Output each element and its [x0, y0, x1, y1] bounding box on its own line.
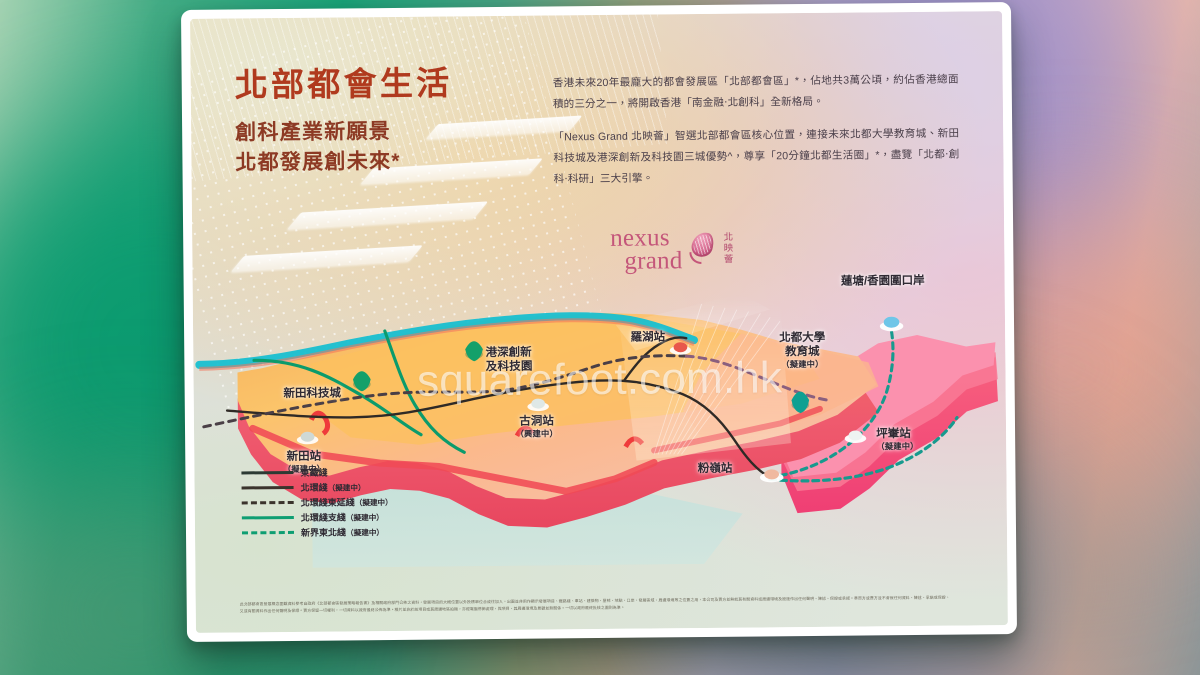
- map-label-hk-sz-innotech-park: 港深創新 及科技園: [486, 345, 533, 373]
- logo-chinese-text: 北映薈: [719, 232, 733, 265]
- label-note: （興建中）: [516, 428, 558, 439]
- seed-leaf-icon: [687, 232, 713, 266]
- map-label-fanling-station: 粉嶺站: [698, 462, 733, 476]
- legend-swatch-dashed: [242, 531, 294, 534]
- label-text: 粉嶺站: [698, 463, 733, 475]
- marker-heung-yuen-wai-bcp: [880, 317, 904, 332]
- legend-swatch-dashed: [242, 501, 294, 504]
- label-text: 新田科技城: [283, 387, 341, 400]
- legend-label-note: （擬建中）: [328, 483, 366, 492]
- label-note: （擬建中）: [779, 358, 825, 369]
- legend-label-note: （擬建中）: [346, 513, 384, 522]
- label-text-line-2: 及科技園: [486, 359, 533, 373]
- label-text-line-2: 教育城: [779, 344, 825, 358]
- headline-subtitle-line-2: 北都發展創未來*: [235, 146, 535, 179]
- label-text-line-1: 北都大學: [779, 331, 825, 343]
- headline-subtitle-line-1: 創科產業新願景: [235, 116, 535, 149]
- legend-swatch-solid: [242, 516, 294, 519]
- label-text-line-1: 港深創新: [486, 346, 532, 358]
- brochure-page: 北部都會生活 創科產業新願景 北都發展創未來* 香港未來20年最龐大的都會發展區…: [190, 11, 1008, 633]
- stem-shape: [690, 252, 702, 264]
- headline-block: 北部都會生活 創科產業新願景 北都發展創未來*: [235, 64, 536, 193]
- map-legend: 東鐵綫 北環綫（擬建中） 北環綫東延綫（擬建中） 北環綫支綫（擬建中） 新界東北…: [241, 464, 393, 540]
- label-note: （擬建中）: [876, 441, 918, 452]
- marker-fanling-station: [760, 469, 784, 482]
- legend-label-text: 北環綫支綫: [301, 512, 346, 522]
- legend-item-northern-link: 北環綫（擬建中）: [242, 479, 393, 495]
- legend-label: 北環綫支綫（擬建中）: [301, 510, 384, 524]
- legend-label-text: 東鐵綫: [300, 468, 327, 478]
- headline-subtitle: 創科產業新願景 北都發展創未來*: [235, 116, 536, 180]
- legend-label: 北環綫東延綫（擬建中）: [301, 495, 393, 509]
- legend-label-note: （擬建中）: [355, 498, 393, 507]
- page-title: 北部都會生活: [235, 64, 535, 105]
- map-label-heung-yuen-wai-bcp: 蓮塘/香園圍口岸: [841, 274, 925, 289]
- body-copy: 香港未來20年最龐大的都會發展區「北部都會區」*，佔地共3萬公頃，約佔香港總面積…: [553, 60, 960, 190]
- legend-label: 新界東北綫（擬建中）: [301, 525, 384, 539]
- legend-swatch-solid: [242, 486, 294, 489]
- legend-label-note: （擬建中）: [346, 528, 384, 537]
- body-paragraph-1: 香港未來20年最龐大的都會發展區「北部都會區」*，佔地共3萬公頃，約佔香港總面積…: [553, 70, 959, 115]
- legend-label-text: 新界東北綫: [301, 527, 346, 537]
- legend-label-text: 北環綫東延綫: [301, 497, 355, 508]
- legend-swatch-solid: [241, 471, 293, 474]
- legend-label: 東鐵綫: [300, 466, 327, 479]
- label-text: 羅湖站: [631, 331, 666, 343]
- label-text: 蓮塘/香園圍口岸: [841, 275, 925, 288]
- legend-item-ne-nt-line: 新界東北綫（擬建中）: [242, 524, 393, 540]
- label-text: 新田站: [287, 450, 322, 462]
- legend-item-northern-link-east-ext: 北環綫東延綫（擬建中）: [242, 494, 393, 510]
- brochure-card: 北部都會生活 創科產業新願景 北都發展創未來* 香港未來20年最龐大的都會發展區…: [181, 2, 1017, 642]
- body-paragraph-2: 「Nexus Grand 北映薈」智選北部都會區核心位置，連接未來北都大學教育城…: [553, 124, 960, 190]
- disclaimer-text: 此北部都會區發展概念圖載資料參考自政府《北部都會區發展策略報告書》及相關政府部門…: [240, 593, 950, 614]
- map-label-kwu-tung-station: 古洞站 （興建中）: [515, 414, 558, 439]
- legend-item-east-rail: 東鐵綫: [241, 464, 392, 480]
- legend-label: 北環綫（擬建中）: [301, 480, 366, 494]
- map-label-northern-uni-town: 北都大學 教育城 （擬建中）: [779, 330, 825, 369]
- map-label-ping-che-station: 坪輋站 （擬建中）: [876, 427, 919, 452]
- label-text: 古洞站: [519, 415, 554, 427]
- label-text: 坪輋站: [876, 428, 911, 440]
- map-label-lo-wu-station: 羅湖站: [631, 330, 666, 344]
- legend-label-text: 北環綫: [301, 483, 328, 493]
- header: 北部都會生活 創科產業新願景 北都發展創未來* 香港未來20年最龐大的都會發展區…: [190, 11, 1004, 193]
- decorative-slab: [286, 202, 487, 230]
- map-label-san-tin-tech-city: 新田科技城: [283, 386, 341, 401]
- legend-item-northern-link-branch: 北環綫支綫（擬建中）: [242, 509, 393, 525]
